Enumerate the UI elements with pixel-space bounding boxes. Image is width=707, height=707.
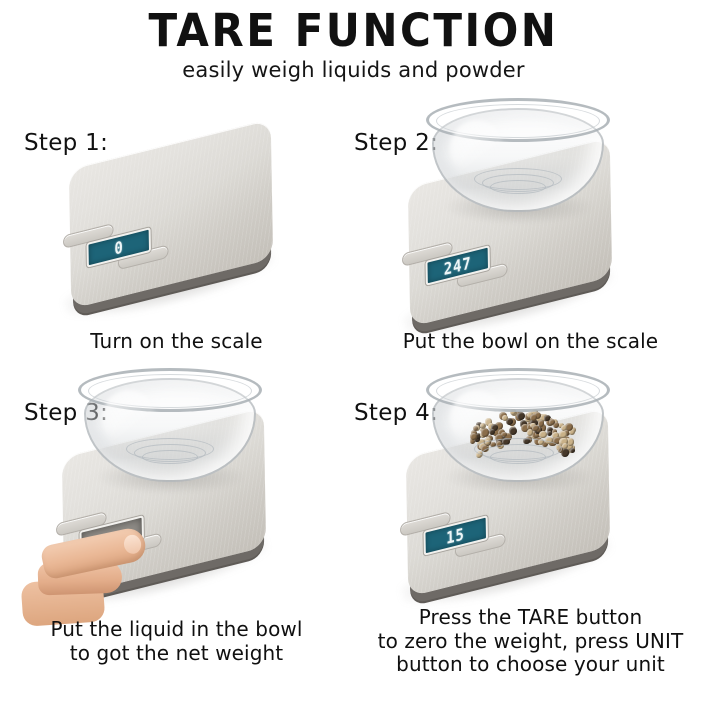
step-panel-3: Step 3: <box>0 382 353 652</box>
page-title: TARE FUNCTION <box>0 4 707 57</box>
peppercorn <box>508 418 516 426</box>
peppercorn <box>529 411 537 419</box>
step-caption-4-line3: button to choose your unit <box>354 653 707 677</box>
step-panel-1: Step 1: 0 Turn on the scale <box>0 112 353 382</box>
infographic-page: TARE FUNCTION easily weigh liquids and p… <box>0 0 707 707</box>
peppercorn <box>485 418 493 426</box>
step-caption-1: Turn on the scale <box>0 330 353 354</box>
lcd-digits-4: 15 <box>446 523 465 547</box>
step-caption-3-line2: to got the net weight <box>0 642 353 666</box>
step-caption-2: Put the bowl on the scale <box>354 330 707 354</box>
step-3-illustration <box>0 382 353 652</box>
page-subtitle: easily weigh liquids and powder <box>0 58 707 82</box>
kitchen-scale-2: 247 <box>394 156 624 336</box>
step-panel-4: Step 4: 15 <box>354 382 707 652</box>
step-caption-4-line2: to zero the weight, press UNIT <box>354 630 707 654</box>
lcd-digits-1: 0 <box>114 237 124 259</box>
peppercorn <box>515 413 523 421</box>
peppercorn <box>536 414 544 422</box>
lcd-digits-2: 247 <box>444 252 472 278</box>
peppercorn <box>525 417 531 423</box>
peppercorn <box>530 418 537 425</box>
peppercorn <box>511 410 517 416</box>
step-caption-3-line1: Put the liquid in the bowl <box>0 618 353 642</box>
fingernail <box>122 533 143 555</box>
peppercorn <box>502 415 508 421</box>
peppercorn <box>530 414 537 421</box>
peppercorn <box>525 413 532 420</box>
peppercorn <box>538 414 546 422</box>
peppercorn <box>527 412 534 419</box>
bowl-rim <box>426 98 610 142</box>
peppercorn <box>534 412 541 419</box>
peppercorn <box>515 411 523 419</box>
peppercorn <box>517 412 525 420</box>
kitchen-scale-1: 0 <box>55 138 285 318</box>
bowl-inner-rim <box>436 104 600 138</box>
peppercorn <box>540 414 547 421</box>
kitchen-scale-3 <box>48 426 278 606</box>
kitchen-scale-4: 15 <box>392 426 622 606</box>
step-caption-3: Put the liquid in the bowl to got the ne… <box>0 618 353 665</box>
step-caption-4: Press the TARE button to zero the weight… <box>354 606 707 677</box>
peppercorn <box>510 409 516 415</box>
step-panel-2: Step 2: 247 <box>354 112 707 382</box>
peppercorn <box>499 412 507 420</box>
peppercorn <box>544 415 550 421</box>
peppercorn <box>532 409 538 415</box>
step-caption-4-line1: Press the TARE button <box>354 606 707 630</box>
peppercorn <box>506 418 513 425</box>
hand-pressing-tare <box>42 530 162 626</box>
